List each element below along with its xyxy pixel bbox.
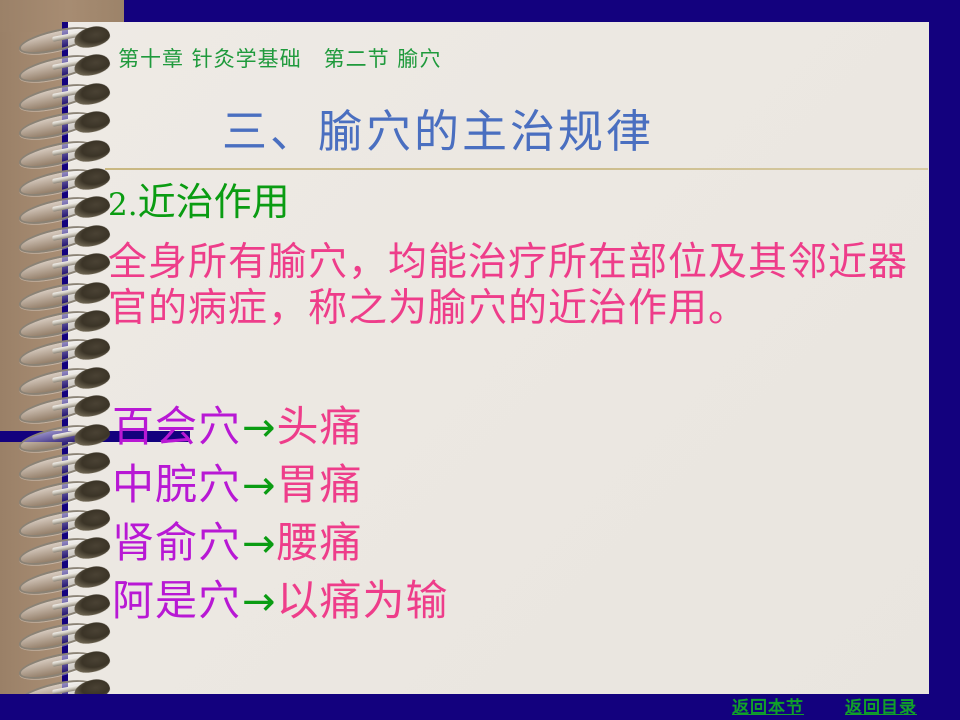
acupoint-name: 阿是穴: [112, 576, 241, 625]
chapter-header: 第十章 针灸学基础 第二节 腧穴: [118, 43, 441, 73]
link-back-to-contents[interactable]: 返回目录: [845, 693, 917, 718]
spiral-ring: [0, 537, 130, 563]
spiral-ring: [0, 424, 130, 450]
subheading-number: 2.: [108, 187, 138, 223]
page-title: 三、腧穴的主治规律: [222, 95, 654, 160]
spiral-ring: [0, 111, 130, 137]
subheading-text: 近治作用: [138, 180, 290, 224]
indication-text: 腰痛: [277, 518, 363, 567]
section-subheading: 2.近治作用: [108, 183, 290, 221]
spiral-ring: [0, 26, 130, 52]
spiral-ring: [0, 395, 130, 421]
example-row: 中脘穴→胃痛: [112, 456, 912, 514]
spiral-ring: [0, 338, 130, 364]
title-divider: [105, 168, 928, 170]
spiral-ring: [0, 622, 130, 648]
example-row: 肾俞穴→腰痛: [112, 514, 912, 572]
spiral-ring: [0, 509, 130, 535]
acupoint-name: 肾俞穴: [112, 518, 241, 567]
indication-text: 以痛为输: [277, 576, 449, 625]
spiral-ring: [0, 566, 130, 592]
spiral-ring: [0, 480, 130, 506]
spiral-ring: [0, 452, 130, 478]
slide-canvas: 第十章 针灸学基础 第二节 腧穴 三、腧穴的主治规律 2.近治作用 全身所有腧穴…: [0, 0, 960, 720]
acupoint-name: 百会穴: [112, 402, 241, 451]
example-row: 百会穴→头痛: [112, 398, 912, 456]
arrow-icon: →: [241, 405, 277, 451]
spiral-ring: [0, 54, 130, 80]
arrow-icon: →: [241, 579, 277, 625]
indication-text: 头痛: [277, 402, 363, 451]
spiral-ring: [0, 651, 130, 677]
arrow-icon: →: [241, 521, 277, 567]
bottom-navigation-bar: 返回本节 返回目录: [0, 694, 960, 720]
arrow-icon: →: [241, 463, 277, 509]
link-back-to-section[interactable]: 返回本节: [732, 693, 804, 718]
example-list: 百会穴→头痛中脘穴→胃痛肾俞穴→腰痛阿是穴→以痛为输: [112, 398, 912, 630]
example-row: 阿是穴→以痛为输: [112, 572, 912, 630]
spiral-ring: [0, 594, 130, 620]
spiral-ring: [0, 367, 130, 393]
spiral-ring: [0, 83, 130, 109]
spiral-ring: [0, 140, 130, 166]
body-paragraph: 全身所有腧穴，均能治疗所在部位及其邻近器官的病症，称之为腧穴的近治作用。: [108, 240, 928, 332]
indication-text: 胃痛: [277, 460, 363, 509]
acupoint-name: 中脘穴: [112, 460, 241, 509]
